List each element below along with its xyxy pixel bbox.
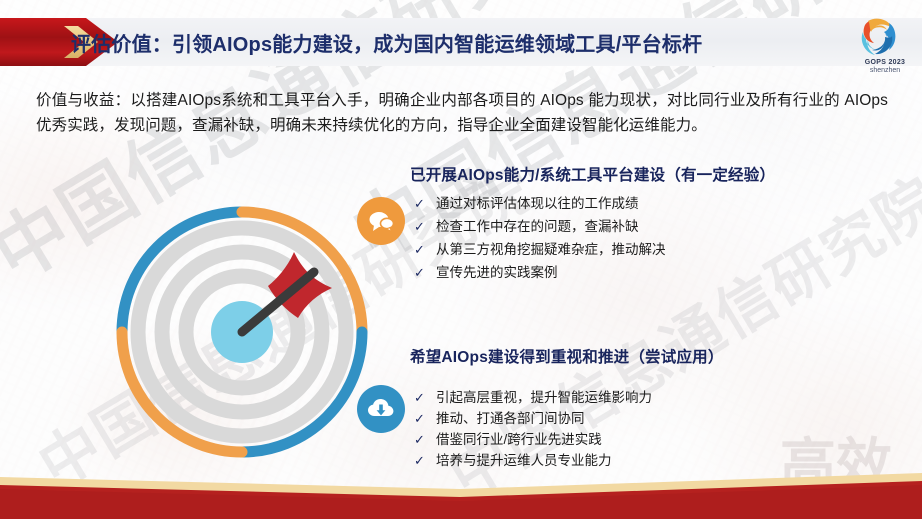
- content-block-experienced: 已开展AIOps能力/系统工具平台建设（有一定经验） ✓ 通过对标评估体现以往的…: [410, 163, 900, 285]
- block-heading: 希望AIOps建设得到重视和推进（尝试应用）: [410, 345, 900, 367]
- check-icon: ✓: [410, 429, 436, 451]
- list-item: ✓ 通过对标评估体现以往的工作成绩: [410, 193, 900, 214]
- list-item-label: 检查工作中存在的问题，查漏补缺: [436, 216, 639, 237]
- check-icon: ✓: [410, 387, 436, 409]
- list-item: ✓ 借鉴同行业/跨行业先进实践: [410, 429, 900, 451]
- target-svg: [108, 198, 376, 466]
- check-icon: ✓: [410, 262, 436, 283]
- list-item-label: 推动、打通各部门间协同: [436, 408, 585, 430]
- check-icon: ✓: [410, 408, 436, 430]
- footer-band: [0, 459, 922, 519]
- list-item: ✓ 推动、打通各部门间协同: [410, 408, 900, 430]
- chat-badge: [357, 197, 405, 245]
- check-icon: ✓: [410, 216, 436, 237]
- chat-bubbles-icon: [368, 210, 394, 232]
- block-heading: 已开展AIOps能力/系统工具平台建设（有一定经验）: [410, 163, 900, 185]
- list-item: ✓ 从第三方视角挖掘疑难杂症，推动解决: [410, 239, 900, 260]
- slide-root: 中国信息通信研究院 中国信息通信研究院 中国信息通信研究院 中国信息通信研究院 …: [0, 0, 922, 519]
- logo-name: GOPS 2023: [856, 59, 914, 67]
- target-with-arrow-graphic: [108, 198, 376, 466]
- gops-swirl-logo: [856, 14, 902, 58]
- footer-svg: [0, 459, 922, 519]
- check-icon: ✓: [410, 193, 436, 214]
- check-icon: ✓: [410, 239, 436, 260]
- bullet-list: ✓ 通过对标评估体现以往的工作成绩 ✓ 检查工作中存在的问题，查漏补缺 ✓ 从第…: [410, 193, 900, 283]
- list-item-label: 借鉴同行业/跨行业先进实践: [436, 429, 602, 451]
- list-item-label: 通过对标评估体现以往的工作成绩: [436, 193, 639, 214]
- content-block-aspirational: 希望AIOps建设得到重视和推进（尝试应用） ✓ 引起高层重视，提升智能运维影响…: [410, 345, 900, 471]
- cloud-download-icon: [367, 397, 395, 421]
- intro-paragraph: 价值与收益：以搭建AIOps系统和工具平台入手，明确企业内部各项目的 AIOps…: [36, 88, 888, 138]
- logo-subtitle: shenzhen: [856, 67, 914, 75]
- list-item: ✓ 宣传先进的实践案例: [410, 262, 900, 283]
- page-title: 评估价值：引领AIOps能力建设，成为国内智能运维领域工具/平台标杆: [71, 18, 702, 66]
- list-item-label: 从第三方视角挖掘疑难杂症，推动解决: [436, 239, 666, 260]
- gops-logo: GOPS 2023 shenzhen: [856, 14, 914, 76]
- list-item-label: 宣传先进的实践案例: [436, 262, 558, 283]
- list-item-label: 引起高层重视，提升智能运维影响力: [436, 387, 652, 409]
- list-item: ✓ 检查工作中存在的问题，查漏补缺: [410, 216, 900, 237]
- cloud-badge: [357, 385, 405, 433]
- list-item: ✓ 引起高层重视，提升智能运维影响力: [410, 387, 900, 409]
